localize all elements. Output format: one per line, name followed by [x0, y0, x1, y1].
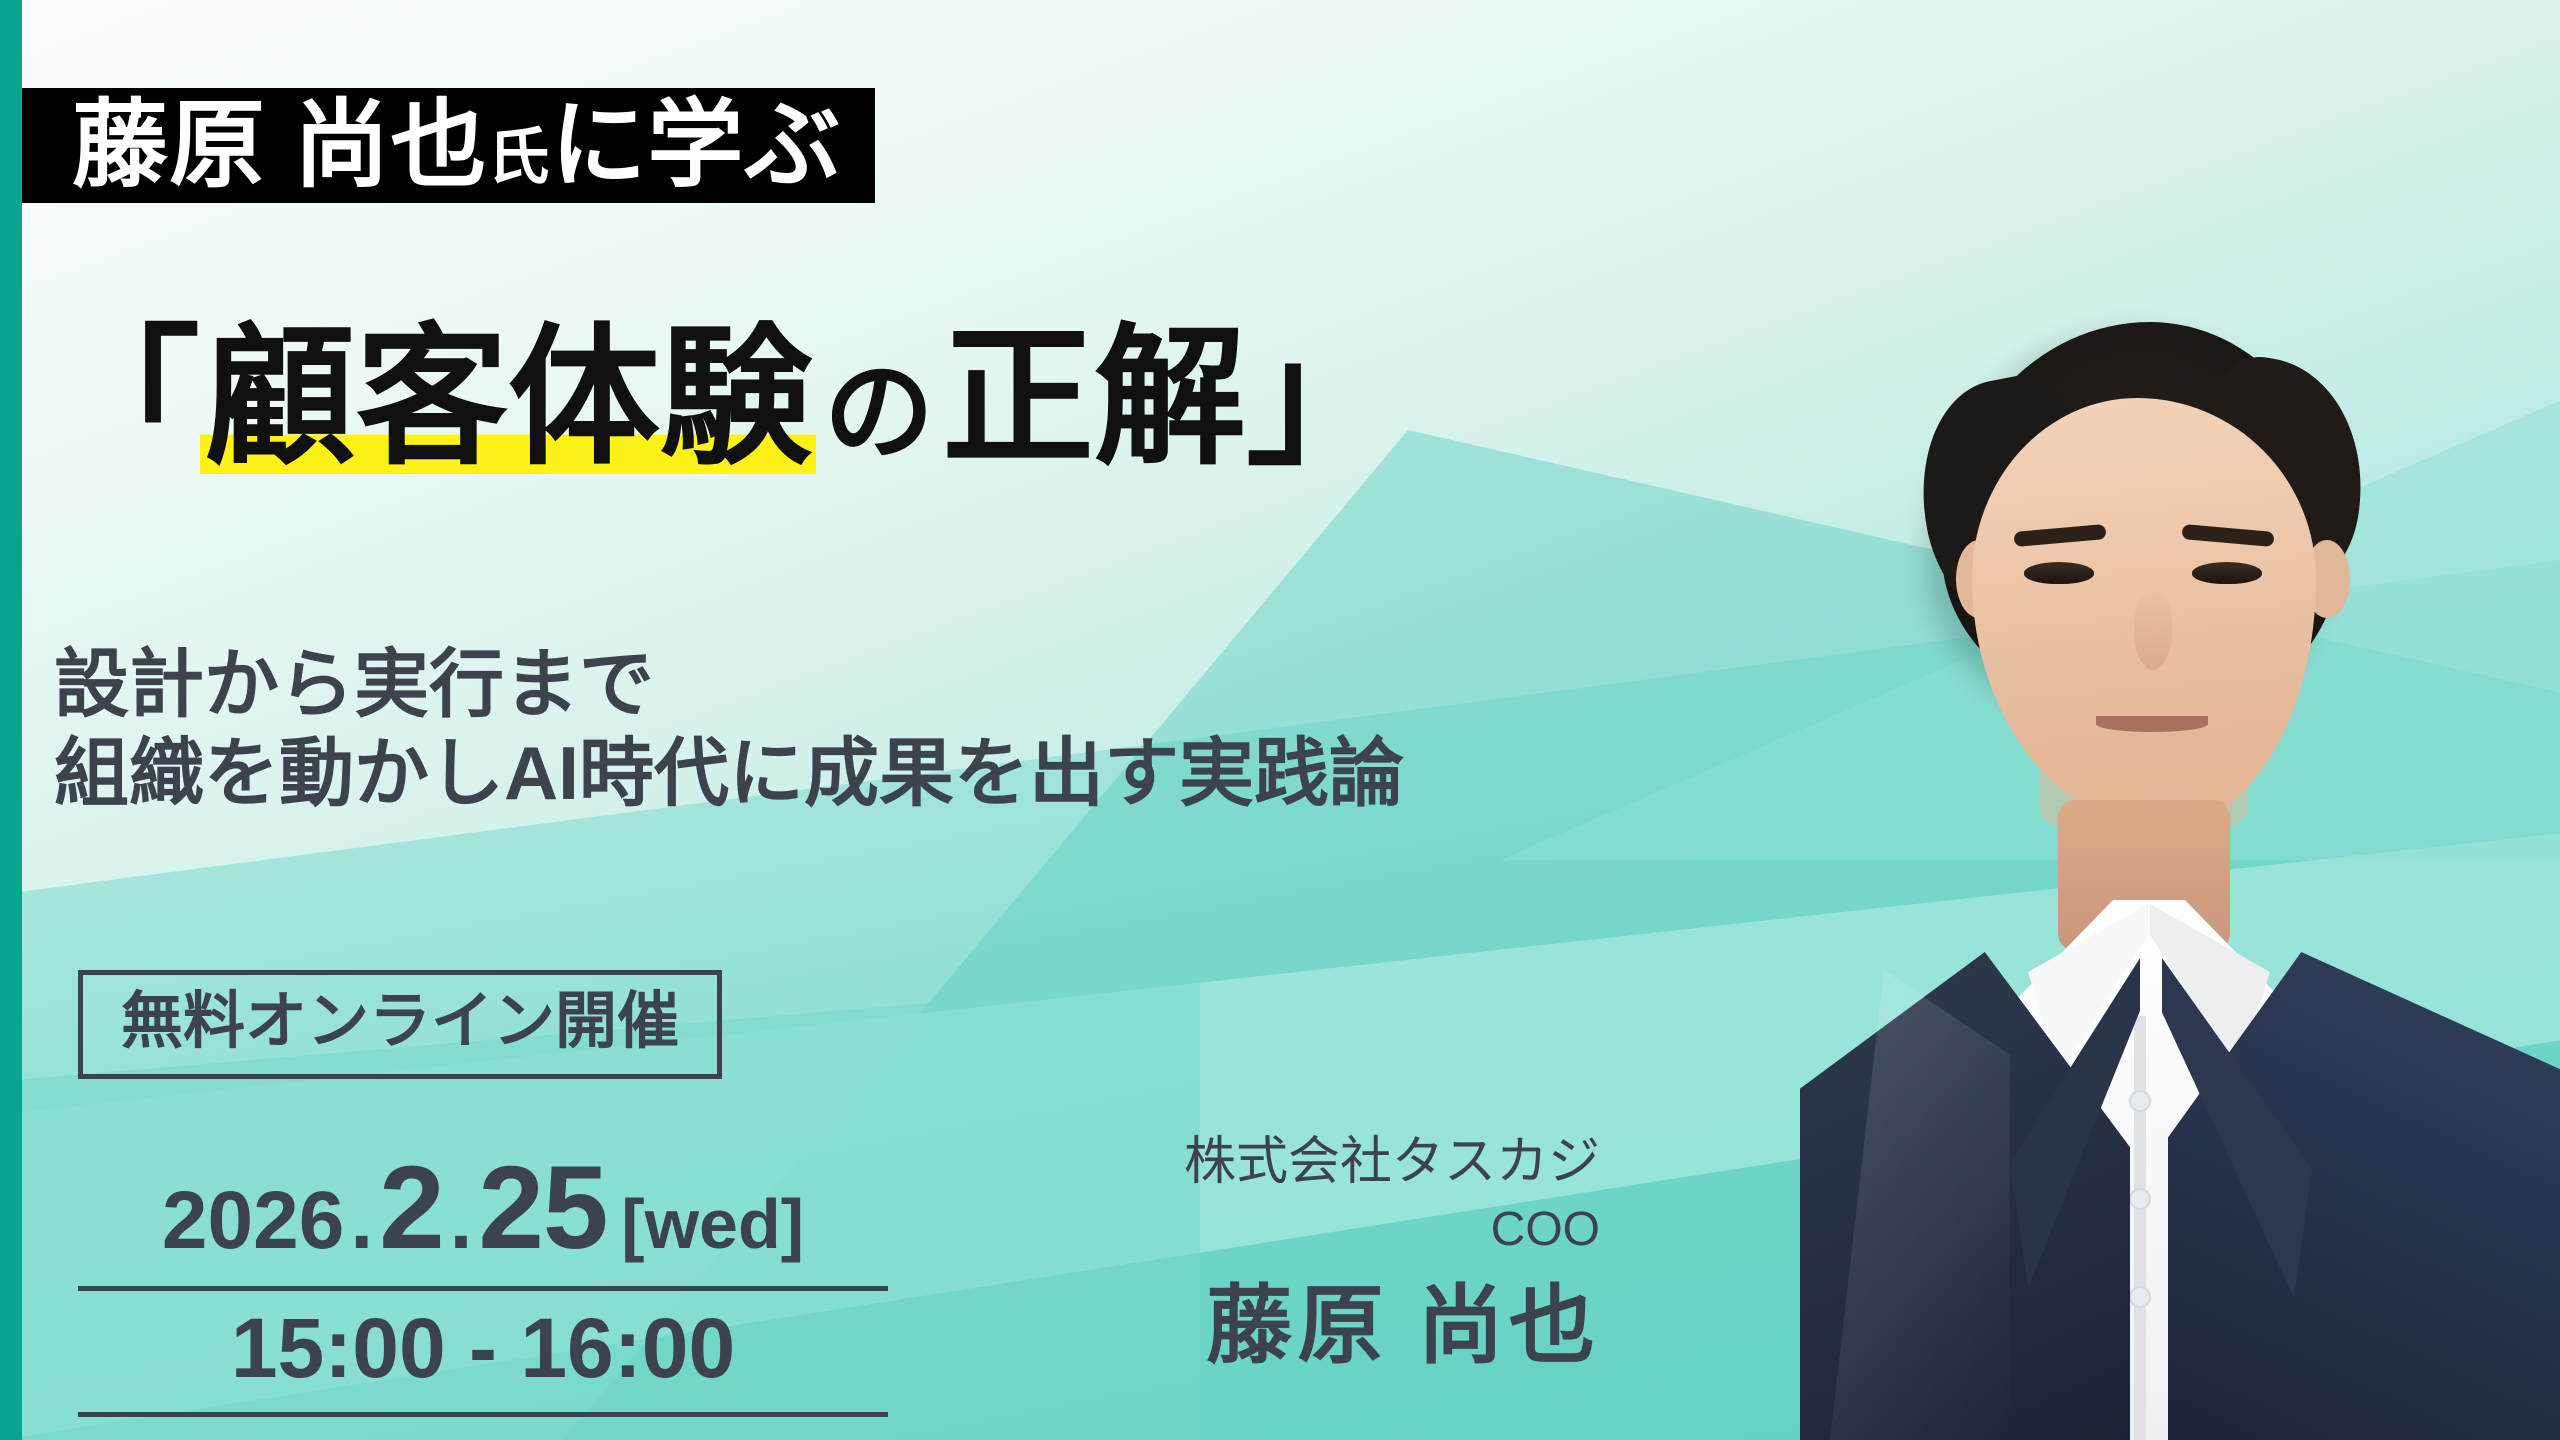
headline-tail: 正解 [942, 322, 1246, 474]
page-title: 「顧客体験の正解」 [50, 322, 1396, 474]
headline-close-quote: 」 [1246, 323, 1396, 473]
eyebrow-text: 藤原 尚也氏に学ぶ [72, 98, 841, 194]
date-separator-1: . [344, 1174, 379, 1268]
speaker-name: 藤原 尚也 [1184, 1261, 1600, 1378]
photo-shirt-placket [2134, 1016, 2146, 1440]
eyebrow-text-main-2: に学ぶ [550, 98, 841, 194]
eyebrow-bar: 藤原 尚也氏に学ぶ [0, 88, 875, 203]
headline-particle: の [816, 358, 942, 468]
photo-eye-right [2192, 562, 2262, 584]
badge-label: 無料オンライン開催 [121, 989, 679, 1054]
date-rule-bottom [78, 1412, 888, 1417]
event-datetime: 2026 . 2 . 25 [wed] 15:00 - 16:00 [78, 1140, 888, 1417]
photo-nose [2134, 592, 2172, 670]
event-day-of-week: [wed] [607, 1184, 804, 1264]
headline-open-quote: 「 [50, 323, 200, 473]
subtitle-line-2: 組織を動かしAI時代に成果を出す実践論 [54, 729, 1404, 818]
event-date: 2026 . 2 . 25 [wed] [78, 1140, 888, 1286]
photo-eye-left [2024, 562, 2094, 584]
photo-shirt-button [2129, 1188, 2151, 1210]
event-month: 2 [379, 1140, 443, 1276]
photo-shirt-button [2129, 1090, 2151, 1112]
webinar-banner: 藤原 尚也氏に学ぶ 「顧客体験の正解」 設計から実行まで 組織を動かしAI時代に… [0, 0, 2560, 1440]
date-separator-2: . [444, 1174, 479, 1268]
subtitle-line-1: 設計から実行まで [54, 640, 1404, 729]
headline-highlight: 顧客体験 [200, 322, 816, 474]
photo-shirt-button [2129, 1286, 2151, 1308]
event-day: 25 [478, 1140, 607, 1276]
event-year: 2026 [162, 1174, 344, 1268]
speaker-company: 株式会社タスカジ [1184, 1130, 1600, 1195]
eyebrow-text-suffix: 氏 [487, 127, 550, 189]
status-badge: 無料オンライン開催 [78, 970, 722, 1079]
photo-mouth [2096, 716, 2208, 732]
event-time: 15:00 - 16:00 [78, 1291, 888, 1412]
eyebrow-text-main-1: 藤原 尚也 [72, 98, 487, 194]
left-accent-rail [0, 0, 22, 1440]
photo-jacket-sheen [1830, 970, 2010, 1440]
speaker-role: COO [1184, 1195, 1600, 1261]
speaker-credits: 株式会社タスカジ COO 藤原 尚也 [1184, 1130, 1600, 1379]
page-subtitle: 設計から実行まで 組織を動かしAI時代に成果を出す実践論 [54, 640, 1404, 817]
speaker-photo [1710, 210, 2560, 1440]
